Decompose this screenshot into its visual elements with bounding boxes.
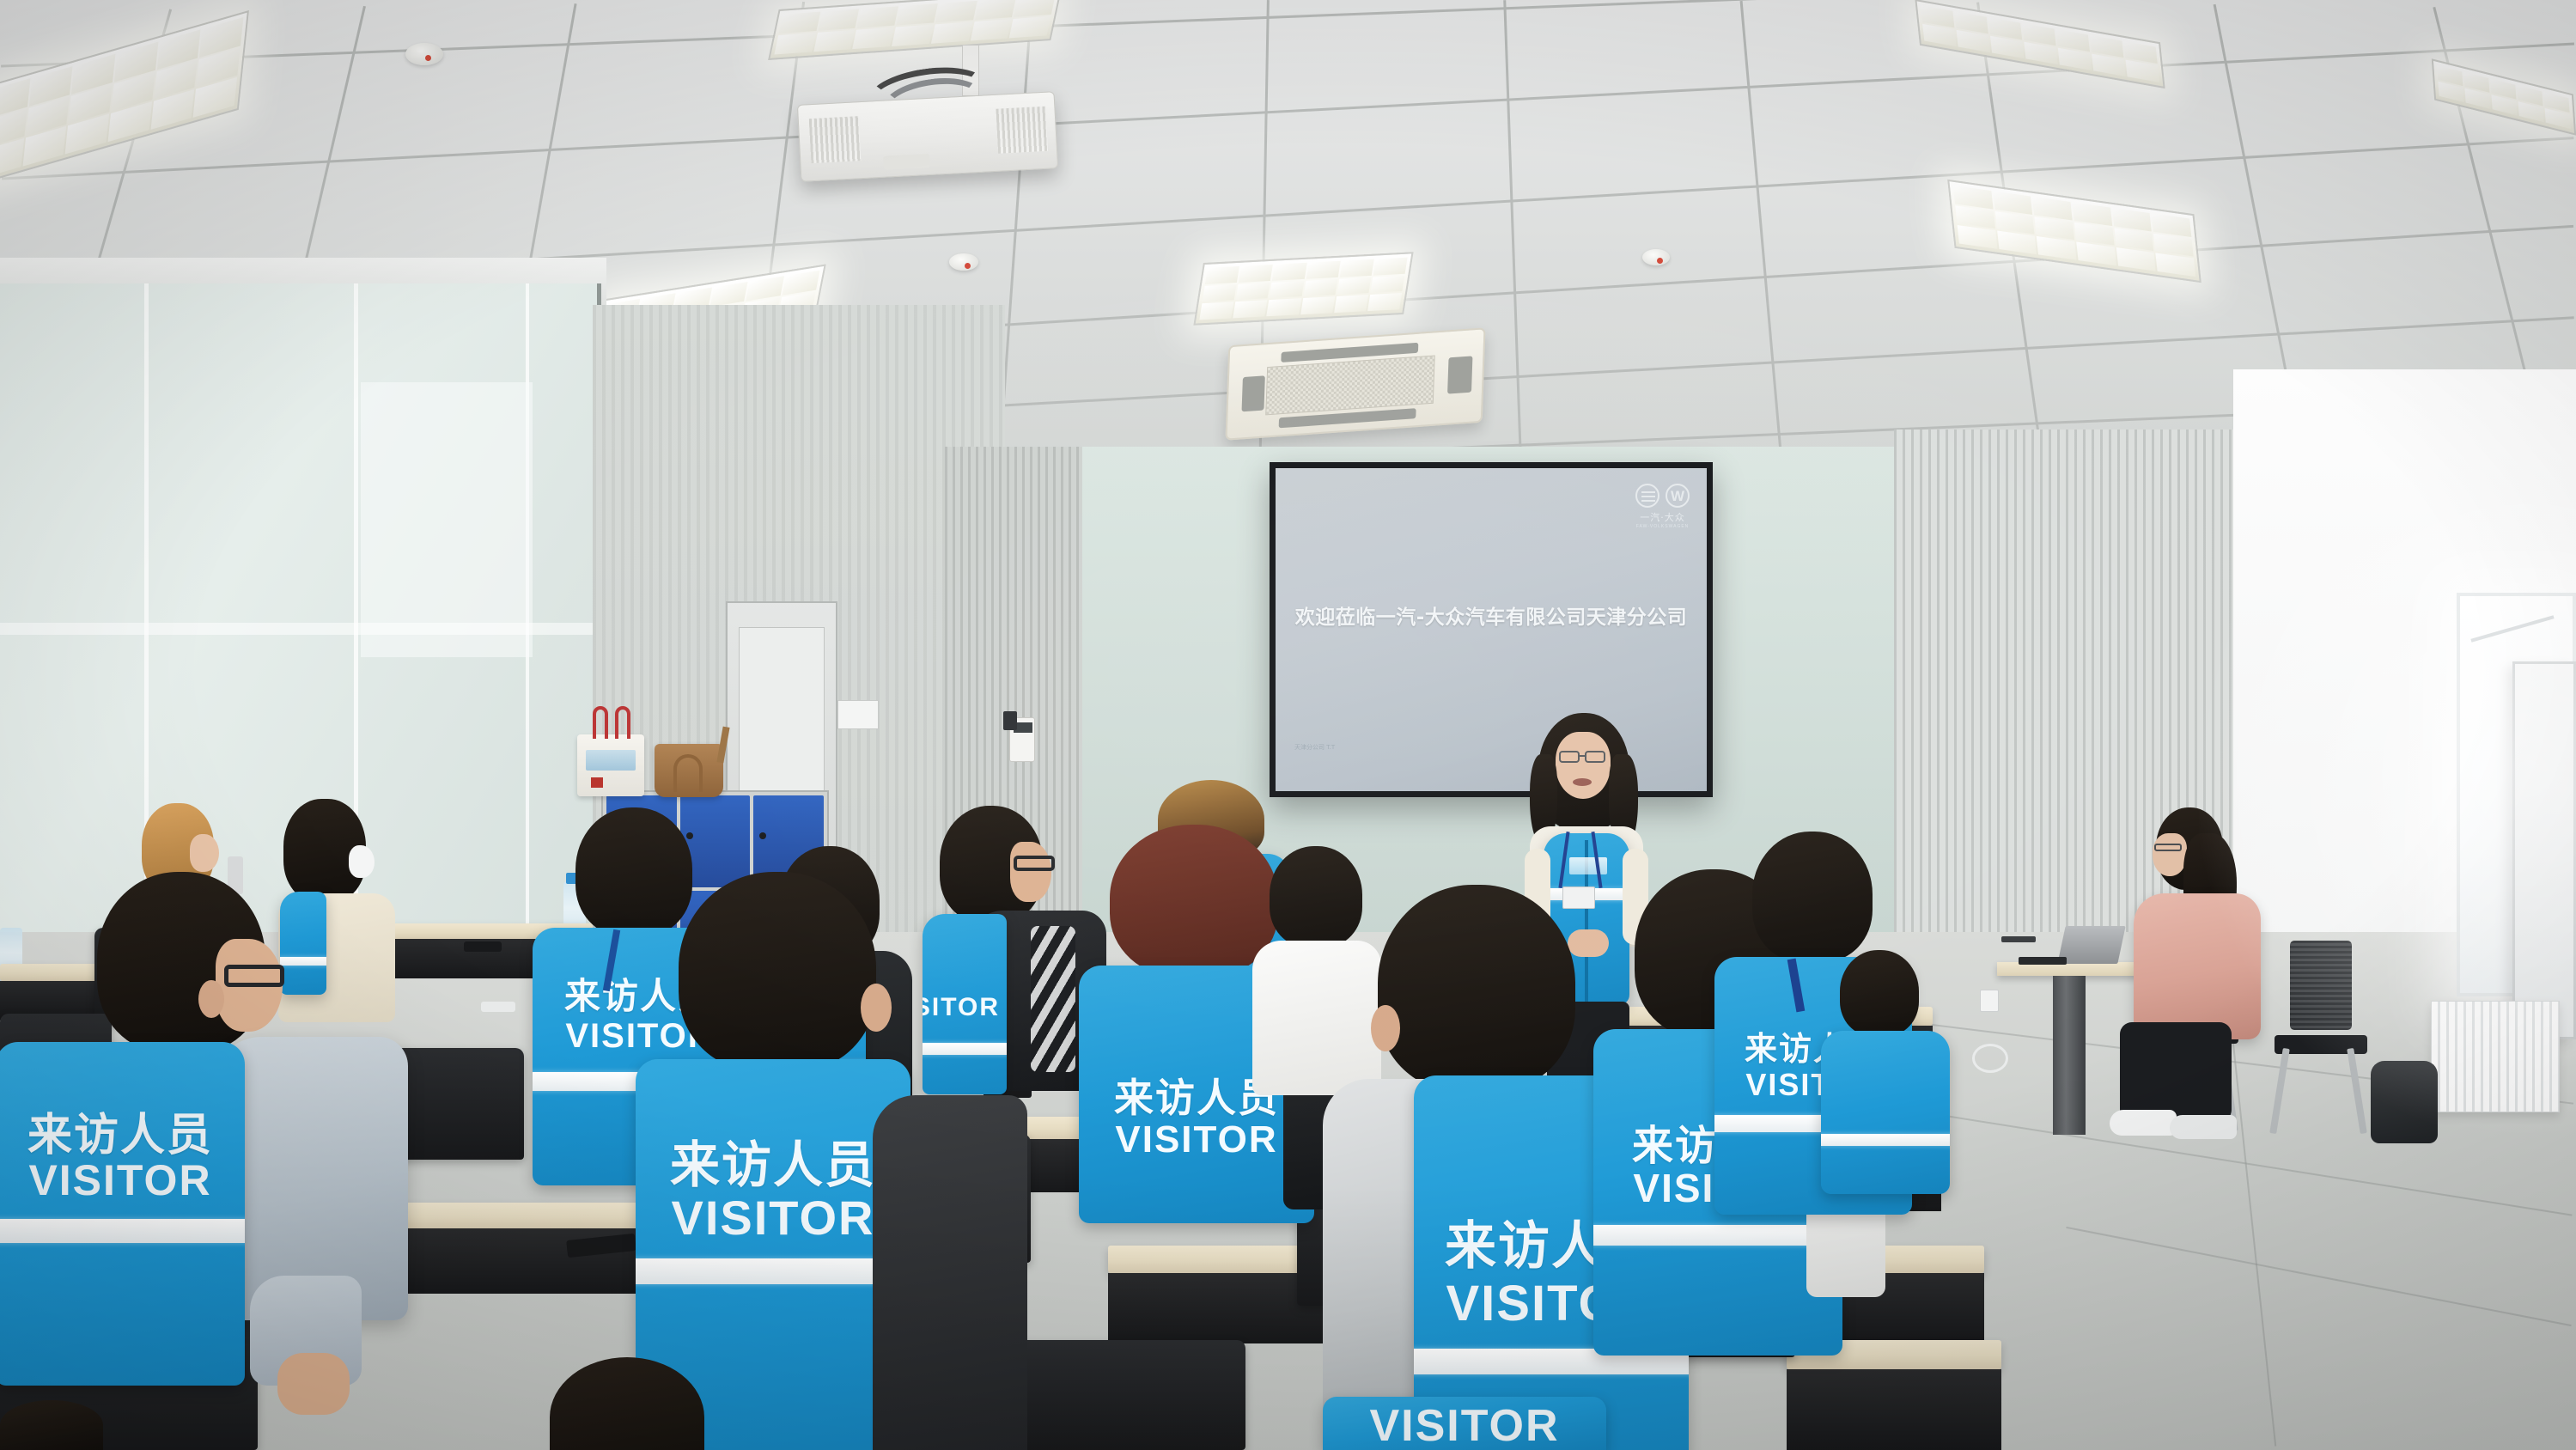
tote-handle [615,706,630,739]
head [1752,832,1873,962]
power-outlet[interactable] [1980,990,1999,1012]
white-shirt [1252,941,1381,1095]
visitor-vest [1821,1031,1950,1194]
classroom-photo-scene: W 一汽·大众 FAW-VOLKSWAGEN 欢迎莅临一汽-大众汽车有限公司天津… [0,0,2576,1450]
glasses-icon [1014,856,1055,871]
legs [2120,1022,2232,1122]
head [1378,885,1575,1091]
glasses-icon [1559,751,1580,763]
head [1270,846,1362,947]
vest-text-en: VISITOR [0,1155,245,1205]
shoe [2170,1115,2237,1139]
power-cable [1972,1044,2008,1073]
keyboard[interactable] [2019,957,2067,965]
visitor-vest: 来访人员 VISITOR [0,1042,245,1386]
smartphone[interactable] [464,941,502,952]
visitor-vest: VISITOR [1323,1397,1606,1450]
vest-text-en: VISITOR [636,1190,910,1246]
head [575,807,692,936]
folding-chair[interactable] [2268,941,2371,1138]
glasses-icon [1585,751,1605,763]
ceiling-light-panel [1193,252,1413,326]
ceiling-projector [797,91,1058,182]
ceiling-light-panel [1947,180,2201,283]
tote-print [586,750,636,771]
smoke-detector-icon [405,43,443,65]
ear [1371,1005,1400,1051]
logo-chinese-text: 一汽·大众 [1635,510,1690,524]
vest-text-en: VISITOR [923,993,1000,1022]
glasses-bridge [1580,755,1586,757]
vest-text-cn: 来访人员 [0,1099,245,1163]
face [1010,842,1051,902]
vest-text-cn: 来访人员 [636,1124,910,1197]
ceiling-light-panel [768,0,1062,60]
vest-text-en: VISITOR [1323,1400,1606,1450]
mouth [1573,778,1592,786]
logo-english-text: FAW-VOLKSWAGEN [1635,524,1690,529]
ceiling-light-panel [0,10,249,186]
head [679,872,876,1071]
shoe [2110,1110,2177,1136]
cable-coil [2001,936,2036,942]
id-badge [1562,886,1595,909]
visitor-vest: VISITOR [923,914,1007,1094]
vest-logo [1569,857,1607,874]
head [0,1400,103,1450]
ear [198,980,224,1018]
faw-volkswagen-logo: W 一汽·大众 FAW-VOLKSWAGEN [1635,484,1690,529]
head [1110,825,1278,978]
torso-jacket [2134,893,2261,1039]
thermostat-icon[interactable] [1003,711,1017,730]
white-tote-bag [577,734,644,796]
slide-headline: 欢迎莅临一汽-大众汽车有限公司天津分公司 [1293,600,1690,630]
ceiling-light-panel [2432,58,2576,135]
radiator [2431,1001,2560,1112]
vest-text-en: VISITOR [1079,1118,1314,1161]
ac-grille-icon [1265,355,1434,415]
backpack [2371,1061,2438,1143]
wall-notice [837,700,879,729]
face [190,834,219,872]
jacket-stripes [1031,926,1075,1072]
dark-shirt-sleeve [873,1095,1027,1450]
projection-screen: W 一汽·大众 FAW-VOLKSWAGEN 欢迎莅临一汽-大众汽车有限公司天津… [1270,462,1713,797]
tote-handle [593,706,608,739]
screen-surface: W 一汽·大众 FAW-VOLKSWAGEN 欢迎莅临一汽-大众汽车有限公司天津… [1276,468,1707,791]
tote-logo [591,777,603,788]
glasses-icon [224,965,284,987]
ear [861,984,892,1032]
mobile-whiteboard [2512,661,2576,1039]
slide-footnote: 天津分公司 T.T [1294,743,1335,752]
ceiling-air-conditioner [1225,327,1485,440]
smoke-detector-icon [1642,249,1670,265]
presenter-face [1556,732,1611,799]
face [2153,833,2187,876]
laptop[interactable] [2057,926,2125,964]
projector-lens [883,154,930,170]
av-desk-leg [2053,976,2086,1135]
face-mask-icon [349,845,375,878]
glasses-icon [2154,844,2182,851]
smoke-detector-icon [949,253,978,271]
visitor-vest [280,892,326,995]
hand [277,1353,350,1415]
vw-emblem-icon: W [1666,484,1690,508]
presenter-hands [1568,929,1609,957]
smartphone[interactable] [481,1002,515,1012]
handbag-strap [673,754,703,792]
faw-emblem-icon [1635,484,1659,508]
head [1840,950,1919,1036]
